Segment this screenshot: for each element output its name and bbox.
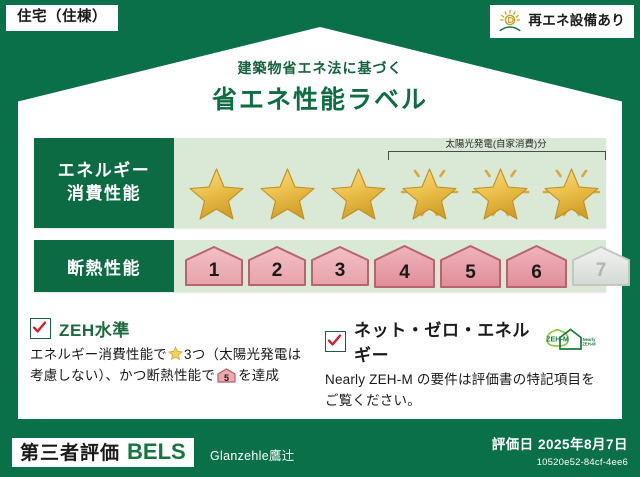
inline-badge-number: 5 <box>217 374 236 383</box>
building-type-tag: 住宅（住棟） <box>6 5 118 31</box>
insulation-badge-4: 4 <box>373 244 436 289</box>
checkmark-icon <box>30 318 51 339</box>
evaluation-id: 10520e52-84cf-4ee6 <box>537 457 628 468</box>
energy-rating-area: 太陽光発電(自家消費)分 <box>174 138 606 228</box>
insulation-performance-row: 断熱性能 1234567 <box>34 240 606 292</box>
svg-text:ZEH-M: ZEH-M <box>546 335 569 344</box>
insulation-badge-2: 2 <box>247 245 307 287</box>
net-zero-energy-head: ネット・ゼロ・エネルギー ZEH-M Nearly ZEH-M <box>325 316 597 366</box>
star-5 <box>466 159 535 223</box>
star-3 <box>324 159 393 223</box>
zeh-standard-panel: ZEH水準 エネルギー消費性能で3つ（太陽光発電は考慮しない）、かつ断熱性能で5… <box>30 316 302 387</box>
insulation-badge-number: 3 <box>335 260 346 282</box>
insulation-rating-area: 1234567 <box>174 240 606 292</box>
solar-generation-note: 太陽光発電(自家消費)分 <box>387 136 605 150</box>
insulation-badge-number: 2 <box>272 260 283 282</box>
evaluation-date: 評価日 2025年8月7日 <box>492 433 628 453</box>
zeh-body-part3: を達成 <box>238 368 279 383</box>
third-party-eval-label: 第三者評価 <box>20 444 120 463</box>
insulation-badge-5: 5 <box>439 244 502 289</box>
energy-label-line1: エネルギー <box>58 160 151 183</box>
insulation-badge-number: 5 <box>465 262 476 284</box>
insulation-grade-inline-badge: 5 <box>217 368 236 383</box>
star-6 <box>537 159 606 223</box>
net-zero-energy-body: Nearly ZEH-M の要件は評価書の特記項目をご覧ください。 <box>325 370 597 412</box>
zeh-standard-title: ZEH水準 <box>59 316 130 341</box>
renewable-equipment-badge: 再エネ設備あり <box>490 5 634 38</box>
building-name: Glanzehle鷹辻 <box>210 445 295 464</box>
sun-icon <box>497 9 523 33</box>
star-4 <box>395 159 464 223</box>
zeh-standard-head: ZEH水準 <box>30 316 302 341</box>
insulation-badge-1: 1 <box>184 245 244 287</box>
insulation-badge-number: 1 <box>209 260 220 282</box>
insulation-badge-list: 1234567 <box>184 243 600 289</box>
label-subtitle: 建築物省エネ法に基づく <box>0 58 640 78</box>
energy-label-line2: 消費性能 <box>67 183 141 206</box>
star-rating <box>182 158 600 224</box>
bels-evaluation-box: 第三者評価 BELS <box>12 438 194 467</box>
insulation-badge-number: 7 <box>596 260 607 282</box>
label-title: 省エネ性能ラベル <box>0 80 640 116</box>
net-zero-energy-title: ネット・ゼロ・エネルギー <box>354 316 533 366</box>
insulation-badge-3: 3 <box>310 245 370 287</box>
star-icon <box>168 346 183 360</box>
energy-performance-label: 住宅（住棟） 再エネ設備あり 建築物省エネ法に基づく 省エ <box>0 0 640 477</box>
star-1 <box>182 159 251 223</box>
checkmark-icon <box>325 331 346 352</box>
energy-performance-label-box: エネルギー 消費性能 <box>34 138 174 228</box>
zeh-standard-body: エネルギー消費性能で3つ（太陽光発電は考慮しない）、かつ断熱性能で5を達成 <box>30 345 302 387</box>
bels-logo-text: BELS <box>127 441 186 463</box>
insulation-badge-6: 6 <box>505 244 568 289</box>
label-footer: 第三者評価 BELS Glanzehle鷹辻 評価日 2025年8月7日 105… <box>0 427 640 477</box>
energy-performance-row: エネルギー 消費性能 太陽光発電(自家消費)分 <box>34 138 606 228</box>
insulation-label: 断熱性能 <box>67 254 141 279</box>
building-type-tag-label: 住宅（住棟） <box>17 9 107 25</box>
zeh-m-logo-icon: ZEH-M Nearly ZEH-M <box>541 325 597 357</box>
net-zero-energy-panel: ネット・ゼロ・エネルギー ZEH-M Nearly ZEH-M Nearly Z… <box>325 316 597 412</box>
insulation-badge-7: 7 <box>571 245 631 287</box>
zeh-body-part1: エネルギー消費性能で <box>30 347 167 362</box>
insulation-performance-label-box: 断熱性能 <box>34 240 174 292</box>
svg-text:ZEH-M: ZEH-M <box>582 342 596 347</box>
insulation-badge-number: 4 <box>399 262 410 284</box>
star-2 <box>253 159 322 223</box>
insulation-badge-number: 6 <box>531 262 542 284</box>
renewable-equipment-label: 再エネ設備あり <box>528 14 625 28</box>
